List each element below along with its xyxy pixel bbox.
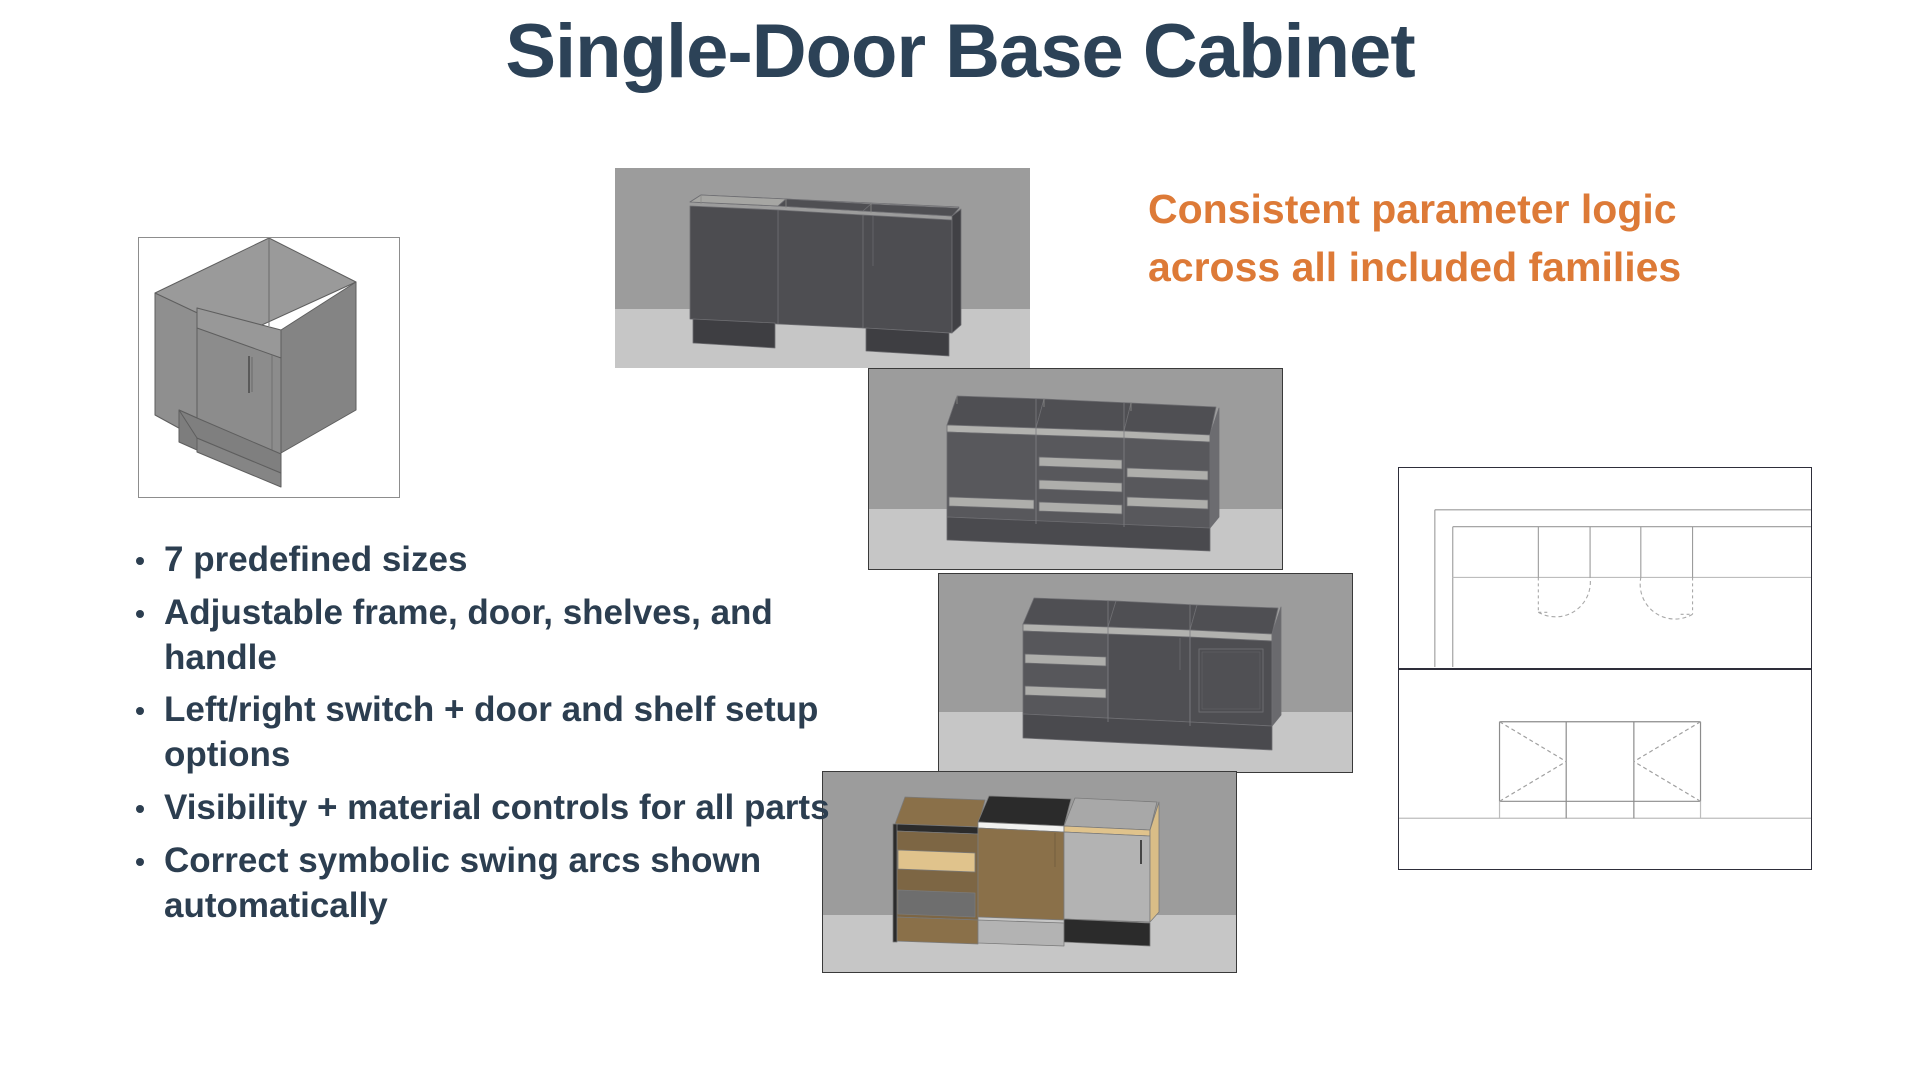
- single-door-base-cabinet-axonometric-icon: [139, 238, 398, 496]
- feature-bullet-list: 7 predefined sizes Adjustable frame, doo…: [128, 538, 868, 936]
- elevation-view-with-swing-symbols: [1399, 468, 1811, 869]
- render-three-cabinets-open-shelving: [868, 368, 1283, 570]
- list-item: 7 predefined sizes: [128, 538, 868, 583]
- list-item: Adjustable frame, door, shelves, and han…: [128, 591, 868, 681]
- callout-line-1: Consistent parameter logic: [1148, 180, 1748, 238]
- plan-and-elevation-drawing-panel: [1398, 467, 1812, 870]
- callout-text: Consistent parameter logic across all in…: [1148, 180, 1748, 296]
- list-item: Visibility + material controls for all p…: [128, 786, 868, 831]
- list-item: Left/right switch + door and shelf setup…: [128, 688, 868, 778]
- cabinet-thumbnail-frame: [138, 237, 400, 498]
- render-three-cabinets-material-variations: [822, 771, 1237, 973]
- list-item: Correct symbolic swing arcs shown automa…: [128, 839, 868, 929]
- render-three-cabinets-doors-closed: [615, 168, 1030, 368]
- callout-line-2: across all included families: [1148, 238, 1748, 296]
- render-three-cabinets-mixed-door-shelf-setup: [938, 573, 1353, 773]
- page-title: Single-Door Base Cabinet: [0, 8, 1920, 95]
